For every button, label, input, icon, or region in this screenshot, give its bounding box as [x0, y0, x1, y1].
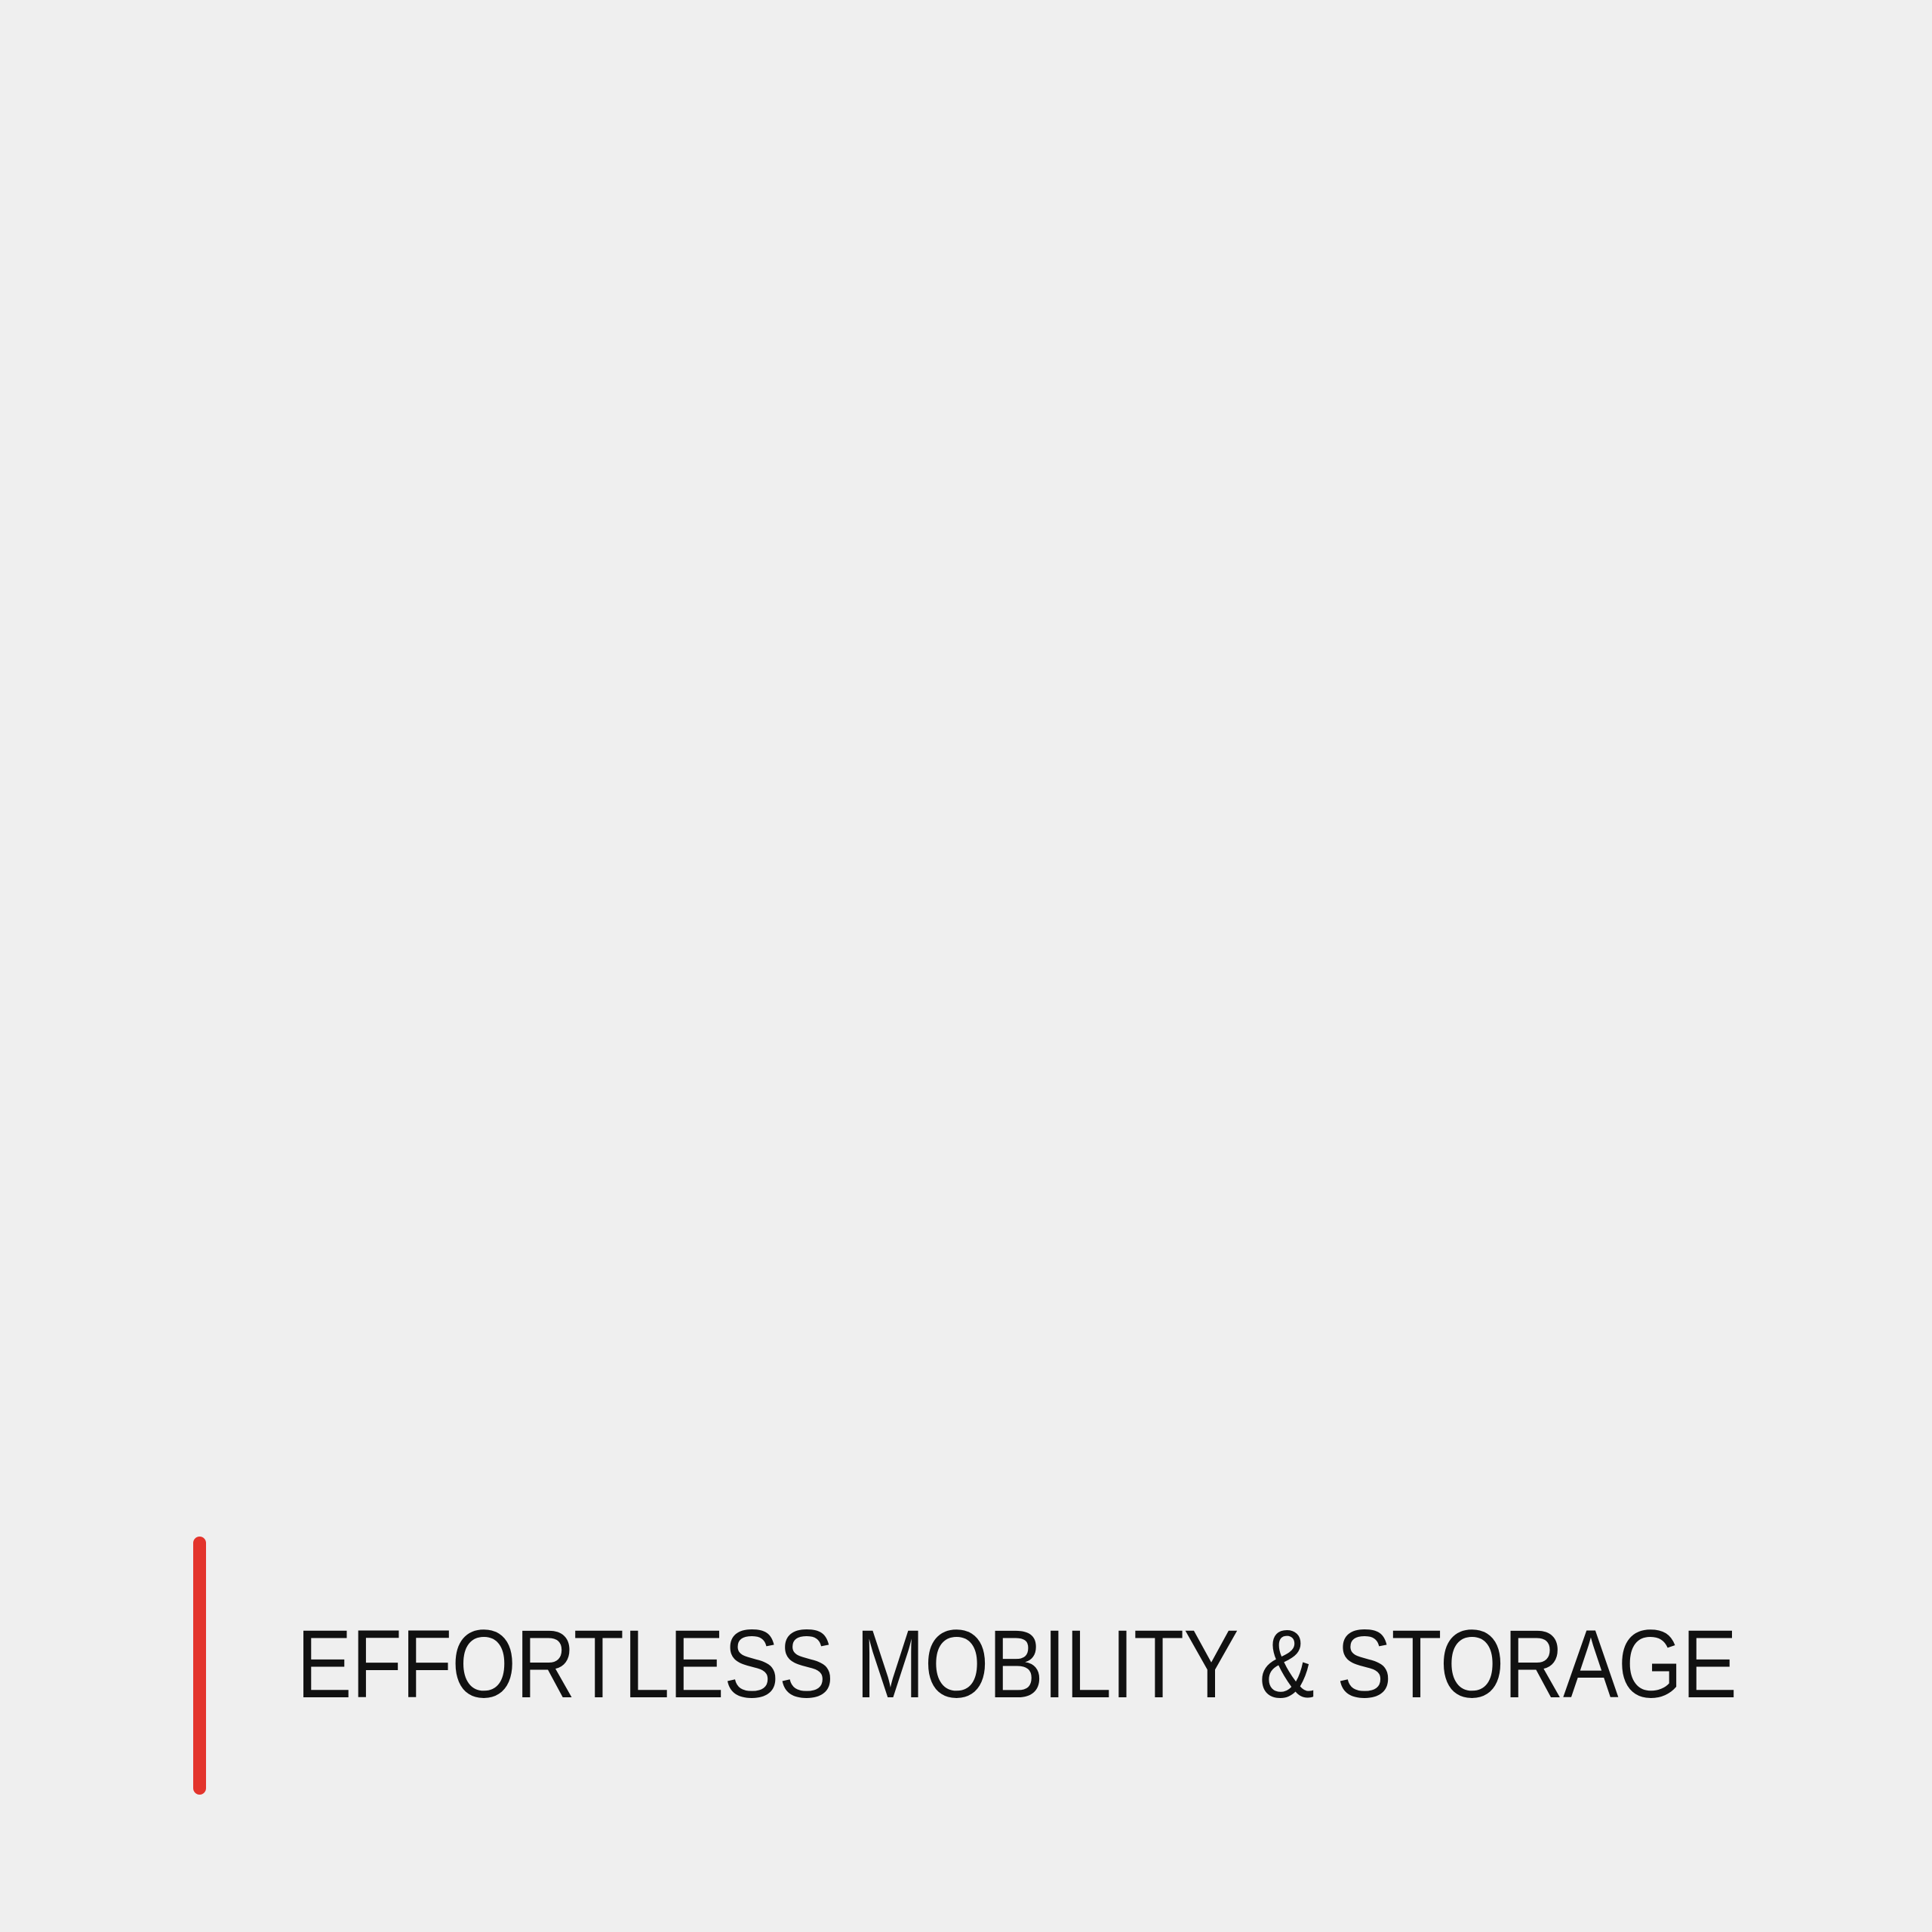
person-walking	[0, 0, 1932, 1392]
hero-photo	[0, 0, 1932, 1392]
caption-title: EFFORTLESS MOBILITY & STORAGE	[297, 1502, 1737, 1826]
accent-bar	[193, 1537, 206, 1795]
caption-block: EFFORTLESS MOBILITY & STORAGE	[0, 1502, 1932, 1826]
page-root: EFFORTLESS MOBILITY & STORAGE	[0, 0, 1932, 1932]
person-shirt-logo	[1244, 309, 1265, 326]
person-shorts-waistband	[1177, 574, 1419, 593]
photo-scene	[0, 0, 1932, 1392]
